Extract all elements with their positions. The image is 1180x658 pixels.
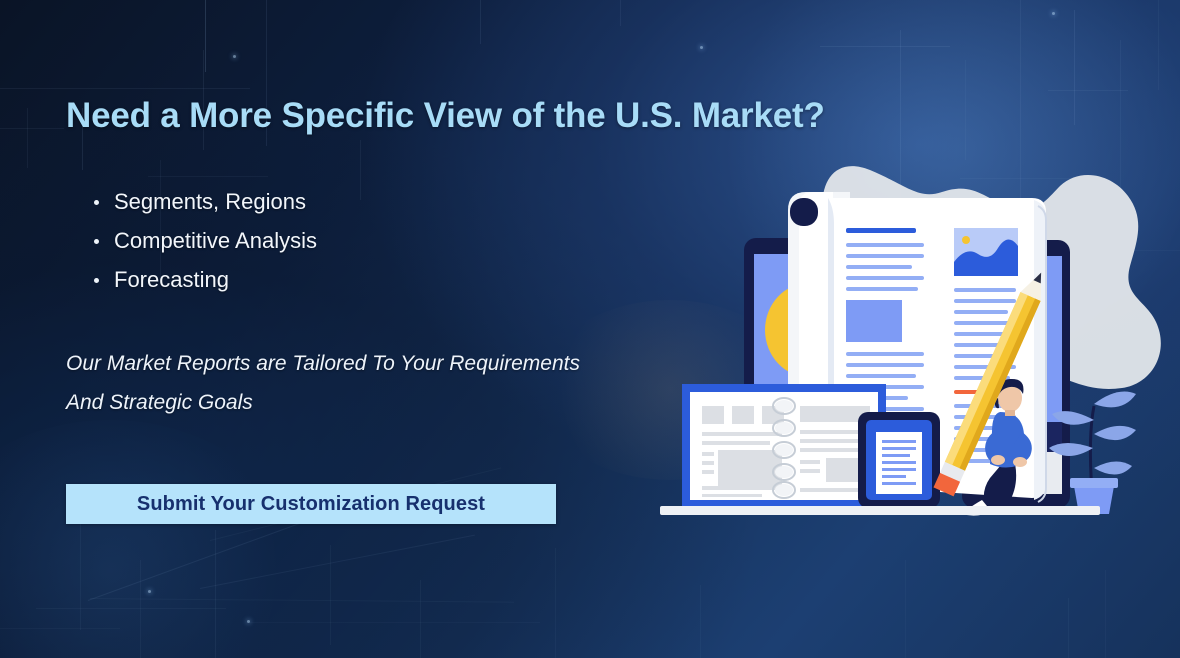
smartphone	[858, 412, 940, 508]
market-research-illustration	[660, 0, 1180, 658]
list-item-label: Segments, Regions	[114, 189, 306, 214]
floor-bar	[660, 506, 1100, 515]
list-item: Segments, Regions	[84, 189, 317, 215]
spiral-notebook	[682, 384, 886, 508]
bullet-dot-icon	[94, 239, 99, 244]
submit-customization-request-button[interactable]: Submit Your Customization Request	[66, 484, 556, 524]
text-column: Need a More Specific View of the U.S. Ma…	[0, 0, 660, 658]
feature-list: Segments, Regions Competitive Analysis F…	[84, 189, 317, 306]
tagline-text: Our Market Reports are Tailored To Your …	[66, 344, 606, 422]
bullet-dot-icon	[94, 278, 99, 283]
list-item-label: Competitive Analysis	[114, 228, 317, 253]
list-item: Competitive Analysis	[84, 228, 317, 254]
cta-label: Submit Your Customization Request	[137, 493, 485, 516]
list-item-label: Forecasting	[114, 267, 229, 292]
promo-banner: Need a More Specific View of the U.S. Ma…	[0, 0, 1180, 658]
bullet-dot-icon	[94, 200, 99, 205]
list-item: Forecasting	[84, 267, 317, 293]
